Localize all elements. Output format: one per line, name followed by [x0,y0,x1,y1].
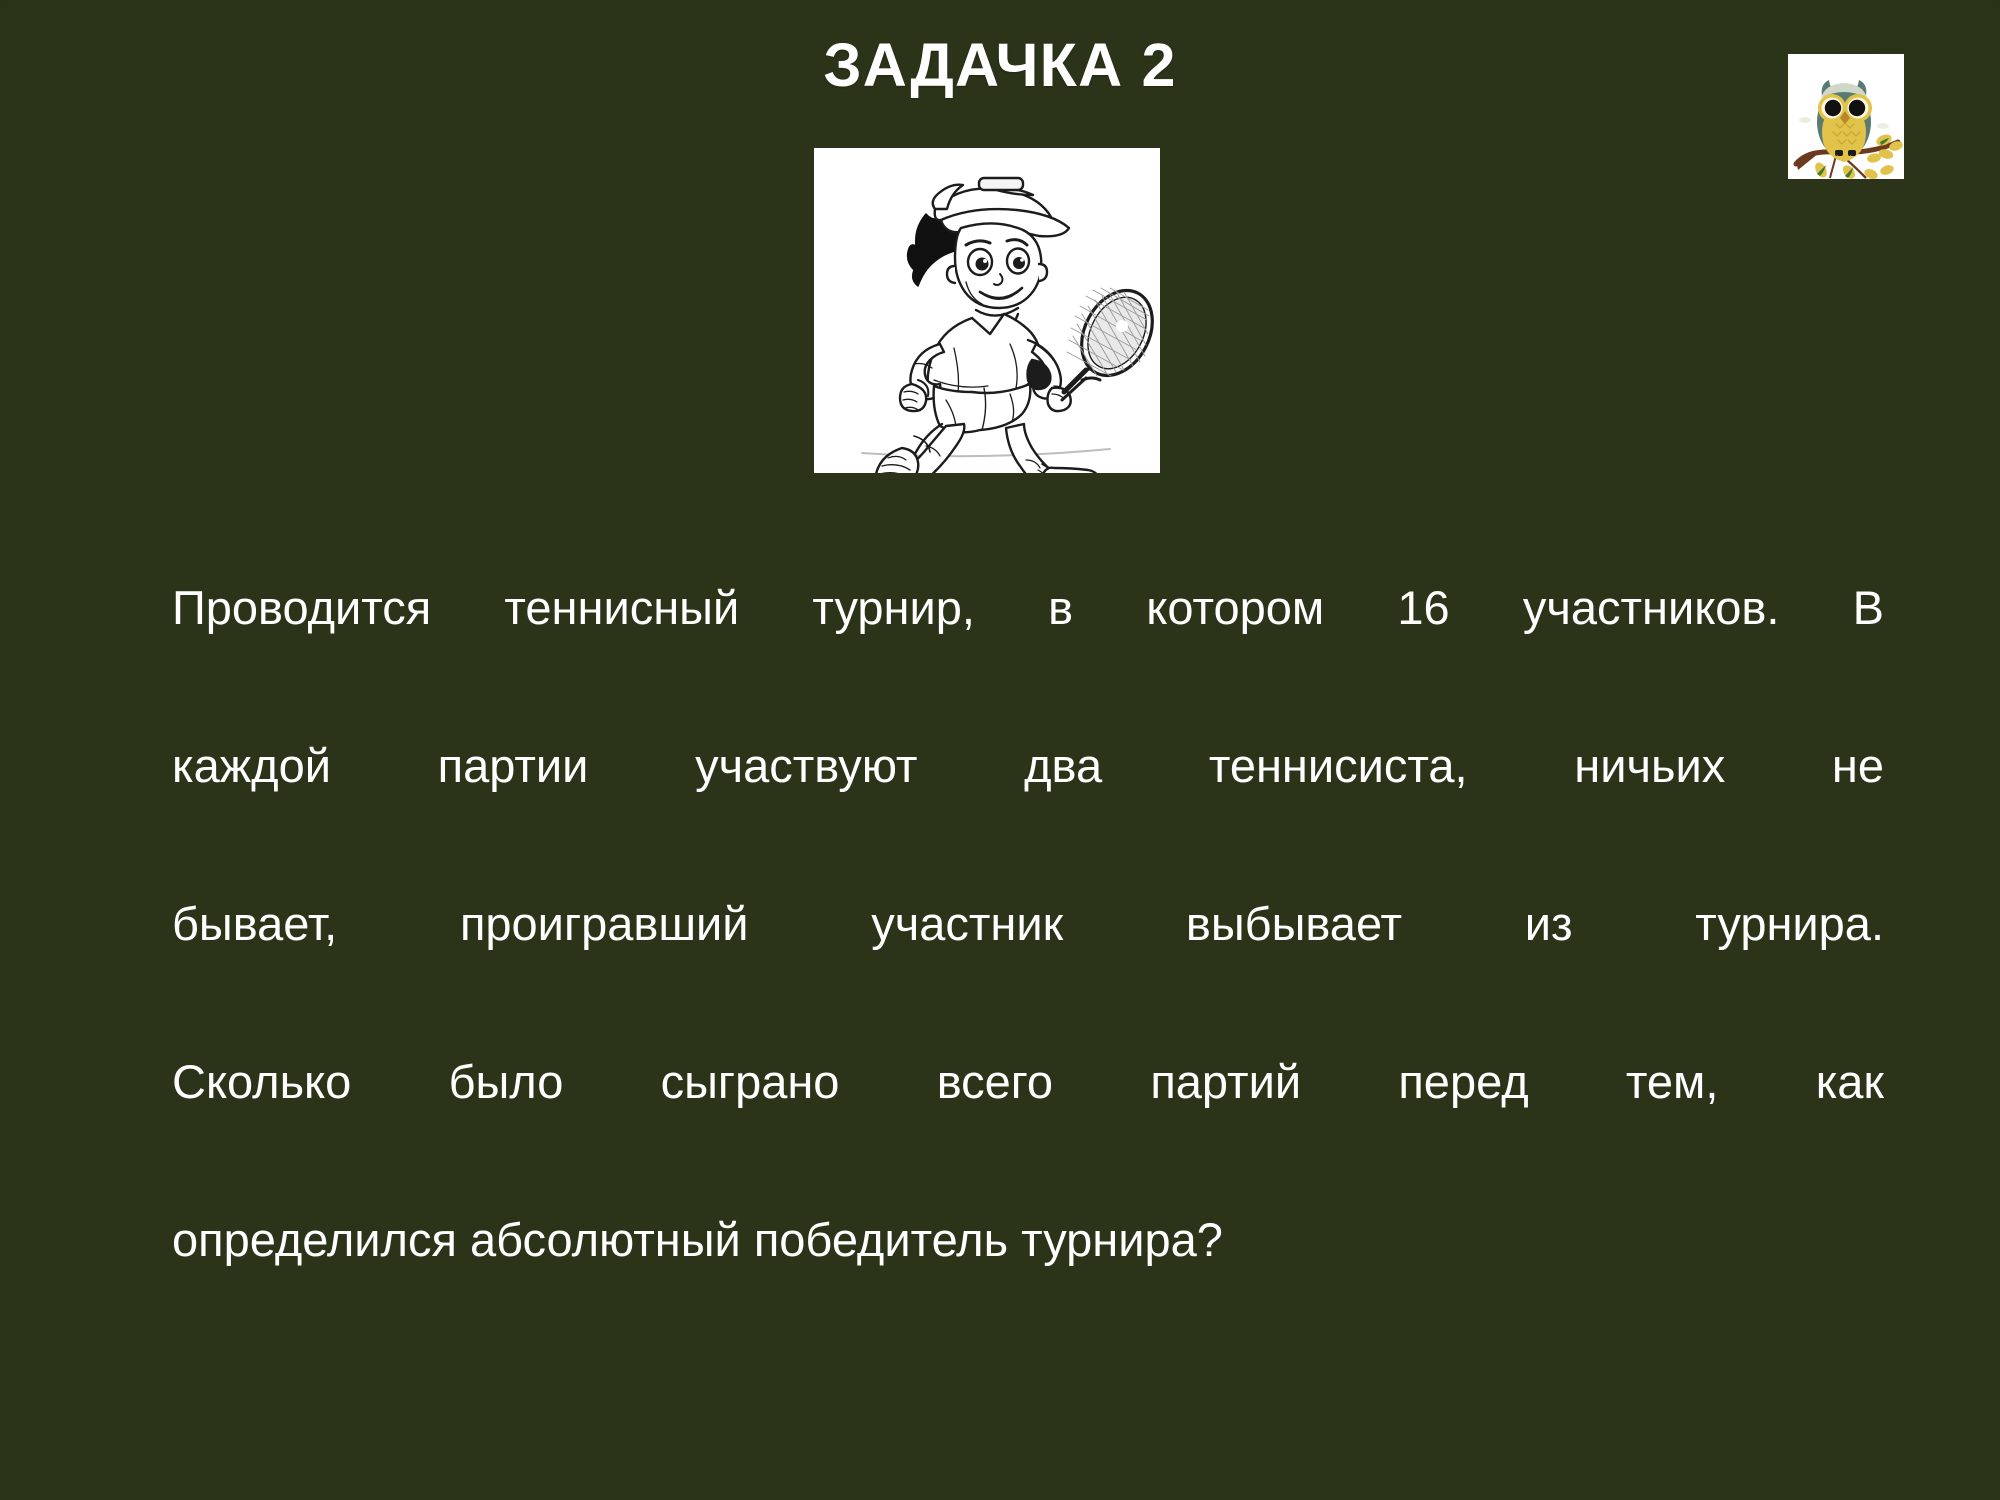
tennis-player-illustration [814,148,1160,473]
problem-line: определился абсолютный победитель турнир… [172,1200,1884,1279]
problem-text: Проводится теннисный турнир, в котором 1… [172,568,1884,1279]
owl-logo [1788,54,1904,179]
problem-line: Проводится теннисный турнир, в котором 1… [172,568,1884,726]
page-title: ЗАДАЧКА 2 [0,30,2000,100]
problem-line: каждой партии участвуют два теннисиста, … [172,726,1884,884]
problem-line: Сколько было сыграно всего партий перед … [172,1042,1884,1200]
problem-line: бывает, проигравший участник выбывает из… [172,884,1884,1042]
slide-canvas: ЗАДАЧКА 2 [0,0,2000,1500]
